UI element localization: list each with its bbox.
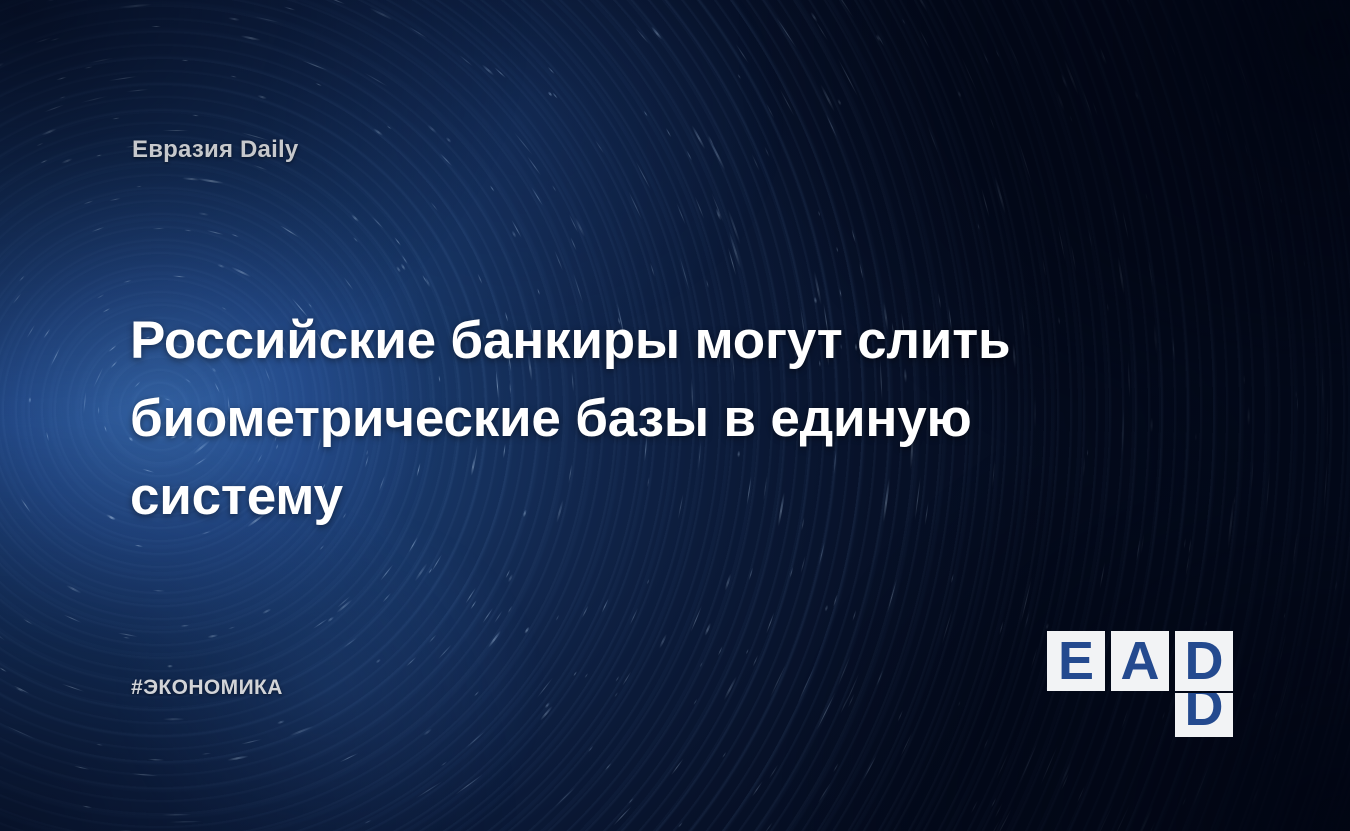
category-hashtag: #ЭКОНОМИКА [131, 676, 283, 700]
logo-letter-e: E [1047, 631, 1105, 691]
logo-tile-a: A [1111, 631, 1169, 691]
eadaily-logo: E A D D [1047, 631, 1235, 737]
brand-name: Евразия Daily [132, 136, 298, 164]
card-content: Евразия Daily Российские банкиры могут с… [0, 0, 1350, 831]
logo-letter-a: A [1111, 631, 1169, 691]
logo-tile-d-bottom: D [1175, 693, 1233, 737]
logo-tile-d-top: D [1175, 631, 1233, 691]
logo-letter-d-bottom: D [1175, 693, 1233, 737]
social-share-card: Евразия Daily Российские банкиры могут с… [0, 0, 1350, 831]
logo-letter-d-top: D [1175, 631, 1233, 691]
page-title: Российские банкиры могут слить биометрич… [130, 302, 1080, 536]
logo-tile-e: E [1047, 631, 1105, 691]
